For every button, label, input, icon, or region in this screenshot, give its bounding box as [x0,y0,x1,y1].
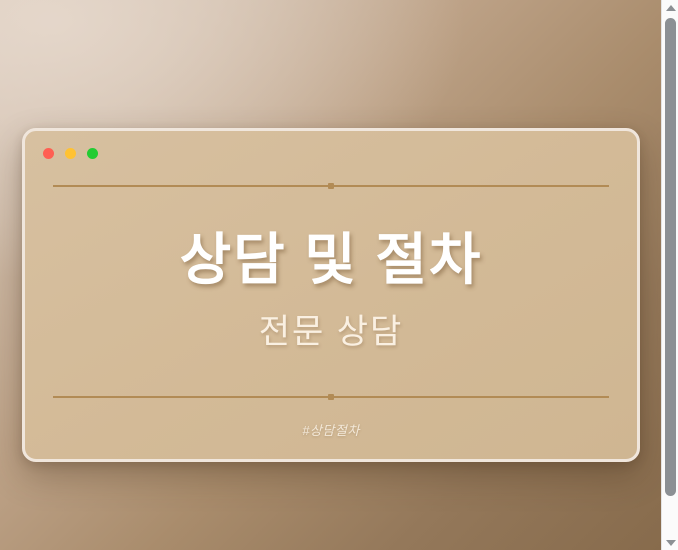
triangle-down-icon [666,540,676,546]
divider-bottom [53,395,609,398]
slide-card[interactable]: 상담 및 절차 전문 상담 #상담절차 [22,128,640,462]
divider-node-icon [328,183,334,189]
slide-subtitle: 전문 상담 [259,312,404,353]
slide-content: 상담 및 절차 전문 상담 #상담절차 [25,131,637,459]
vertical-scrollbar[interactable] [661,0,678,550]
scroll-up-arrow-icon[interactable] [662,0,678,15]
divider-node-icon [328,394,334,400]
scrollbar-thumb[interactable] [665,18,676,496]
slide-hashtag: #상담절차 [302,420,360,439]
triangle-up-icon [666,5,676,11]
scroll-down-arrow-icon[interactable] [662,535,678,550]
slide-title: 상담 및 절차 [180,229,483,292]
title-block: 상담 및 절차 전문 상담 [53,187,609,395]
divider-top [53,184,609,187]
screen: 상담 및 절차 전문 상담 #상담절차 [0,0,678,550]
